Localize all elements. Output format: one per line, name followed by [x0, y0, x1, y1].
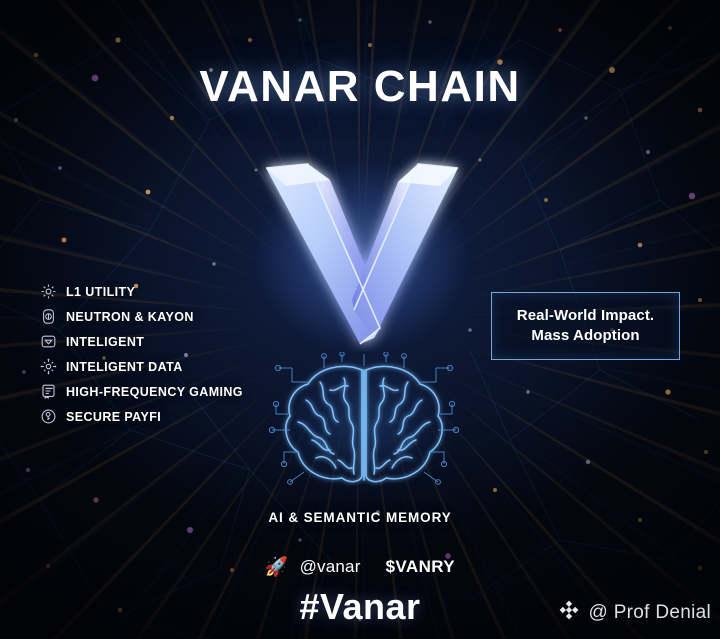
feature-item-neutron-kayon[interactable]: NEUTRON & KAYON: [40, 304, 310, 329]
ai-caption: AI & SEMANTIC MEMORY: [0, 510, 720, 525]
watermark-text: @ Prof Denial: [589, 602, 711, 624]
feature-label: HIGH-FREQUENCY GAMING: [66, 385, 243, 399]
callout-line-2: Mass Adoption: [531, 326, 639, 346]
page-title: VANAR CHAIN: [0, 62, 720, 112]
social-handle[interactable]: @vanar: [300, 557, 361, 577]
vanar-chain-poster: VANAR CHAIN: [0, 0, 720, 639]
social-handles: 🚀 @vanar $VANRY: [0, 557, 720, 577]
feature-label: NEUTRON & KAYON: [66, 310, 194, 324]
feature-item-secure-payfi[interactable]: SECURE PAYFI: [40, 404, 310, 429]
callout-line-1: Real-World Impact.: [517, 306, 654, 326]
feature-label: L1 UTILITY: [66, 285, 135, 299]
feature-item-inteligent[interactable]: INTELIGENT: [40, 329, 310, 354]
feature-label: INTELIGENT DATA: [66, 360, 183, 374]
atom-burst-icon: [40, 358, 57, 375]
feature-item-l1-utility[interactable]: L1 UTILITY: [40, 279, 310, 304]
watermark: @ Prof Denial: [558, 599, 711, 627]
feature-label: INTELIGENT: [66, 335, 144, 349]
token-ticker: $VANRY: [386, 557, 455, 577]
key-circle-icon: [40, 408, 57, 425]
callout-box: Real-World Impact. Mass Adoption: [491, 292, 680, 360]
feature-item-high-frequency-gaming[interactable]: HIGH-FREQUENCY GAMING: [40, 379, 310, 404]
binance-diamond-logo-icon: [558, 599, 580, 627]
document-list-icon: [40, 383, 57, 400]
gear-burst-icon: [40, 283, 57, 300]
rocket-emoji-icon: 🚀: [265, 558, 289, 577]
feature-list: L1 UTILITY NEUTRON & KAYON INTELIGENT: [40, 279, 310, 429]
feature-label: SECURE PAYFI: [66, 410, 161, 424]
chip-capsule-icon: [40, 308, 57, 325]
diamond-box-icon: [40, 333, 57, 350]
feature-item-inteligent-data[interactable]: INTELIGENT DATA: [40, 354, 310, 379]
